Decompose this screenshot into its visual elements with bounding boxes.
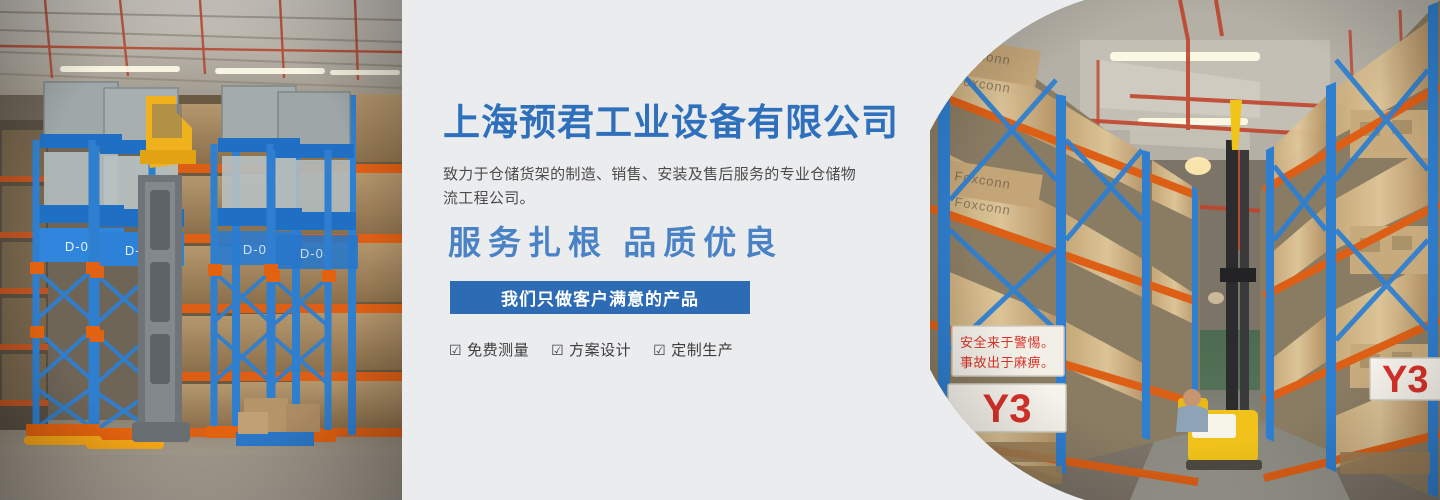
page-title: 上海预君工业设备有限公司: [443, 104, 899, 141]
right-photo-illustration: Foxconn Foxconn Foxconn Foxconn: [930, 0, 1440, 500]
feature-label: 定制生产: [671, 339, 733, 360]
hero-subtitle: 致力于仓储货架的制造、销售、安装及售后服务的专业仓储物流工程公司。: [443, 163, 863, 212]
feature-item-free-measure[interactable]: ☑ 免费测量: [449, 339, 529, 360]
feature-label: 方案设计: [569, 339, 631, 360]
left-photo-illustration: D-07 D-06 D-05 D-04: [0, 0, 402, 500]
feature-item-custom-production[interactable]: ☑ 定制生产: [653, 339, 733, 360]
hero-slogan: 服务扎根 品质优良: [448, 228, 783, 261]
hero-banner: D-07 D-06 D-05 D-04: [0, 0, 1440, 500]
feature-item-scheme-design[interactable]: ☑ 方案设计: [551, 339, 631, 360]
cta-button[interactable]: 我们只做客户满意的产品: [450, 281, 750, 314]
check-box-icon: ☑: [551, 343, 564, 357]
check-box-icon: ☑: [653, 343, 666, 357]
left-warehouse-photo: D-07 D-06 D-05 D-04: [0, 0, 402, 500]
hero-text-block: 上海预君工业设备有限公司 致力于仓储货架的制造、销售、安装及售后服务的专业仓储物…: [443, 0, 963, 500]
right-warehouse-photo: Foxconn Foxconn Foxconn Foxconn: [930, 0, 1440, 500]
feature-label: 免费测量: [467, 339, 529, 360]
check-box-icon: ☑: [449, 343, 462, 357]
feature-list: ☑ 免费测量 ☑ 方案设计 ☑ 定制生产: [449, 339, 733, 360]
